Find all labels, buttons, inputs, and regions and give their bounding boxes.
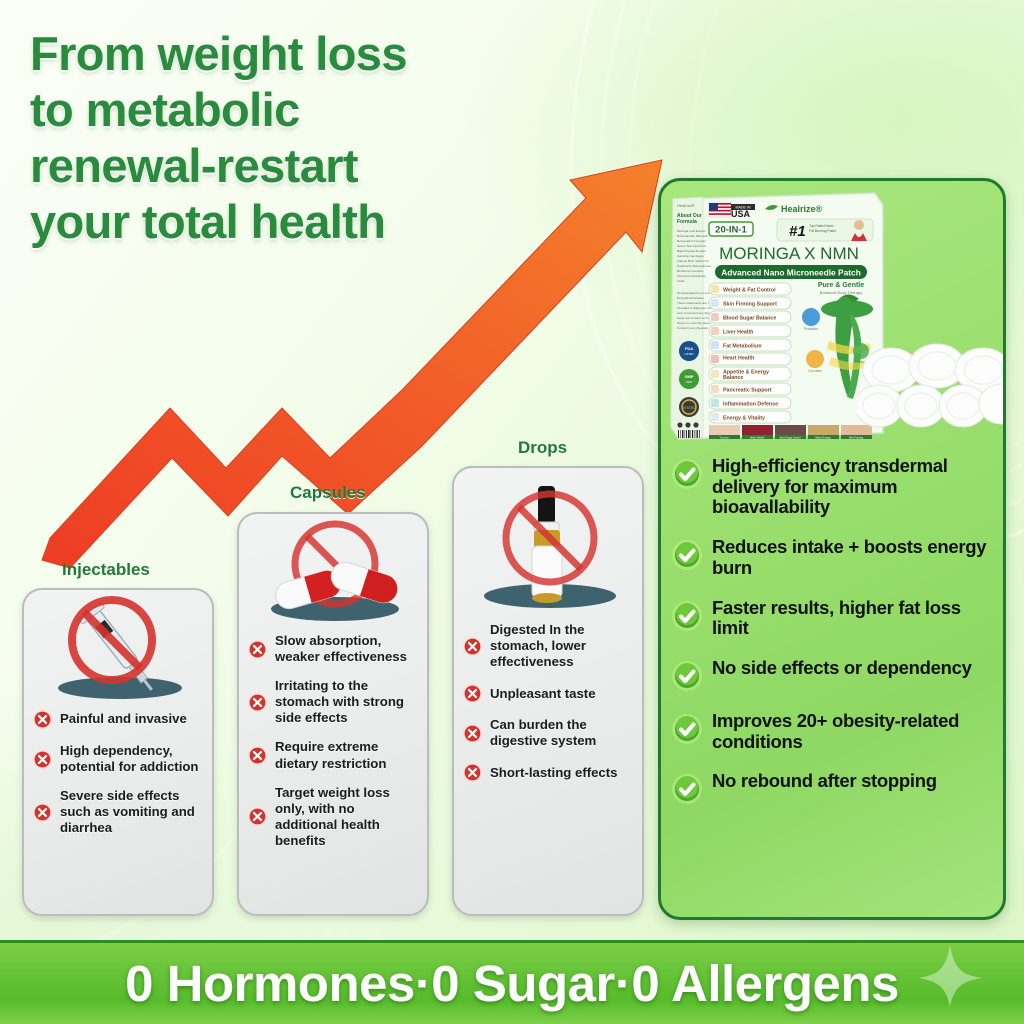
check-mark-icon xyxy=(671,600,703,632)
svg-text:Garcinia Cambogia: Garcinia Cambogia xyxy=(677,254,704,258)
list-item-text: Slow absorption, weaker effectiveness xyxy=(275,633,417,665)
svg-text:Liver Health: Liver Health xyxy=(723,330,753,336)
list-item: Short-lasting effects xyxy=(462,762,632,783)
svg-text:Heart Health: Heart Health xyxy=(750,435,765,439)
svg-text:Green Tea Catechins: Green Tea Catechins xyxy=(677,244,706,248)
svg-text:Healrize®: Healrize® xyxy=(781,204,823,214)
check-mark-icon xyxy=(671,539,703,571)
check-mark-icon xyxy=(671,713,703,745)
product-subtitle: Advanced Nano Microneedle Patch xyxy=(721,268,861,278)
svg-text:Moringa Leaf Extract: Moringa Leaf Extract xyxy=(677,229,706,233)
list-item-text: Digested In the stomach, lower effective… xyxy=(490,622,632,670)
card-label-capsules: Capsules xyxy=(290,483,366,503)
x-mark-icon xyxy=(462,683,483,704)
svg-text:20-IN-1: 20-IN-1 xyxy=(715,225,747,236)
count-badge: 20-IN-1 xyxy=(709,222,753,236)
svg-text:FDA: FDA xyxy=(685,346,693,351)
list-item-text: Painful and invasive xyxy=(60,711,187,727)
list-item: Digested In the stomach, lower effective… xyxy=(462,622,632,670)
list-item: High-efficiency transdermal delivery for… xyxy=(671,456,995,518)
svg-text:Blood Sugar Balance: Blood Sugar Balance xyxy=(723,316,776,322)
check-mark-icon xyxy=(671,458,703,490)
svg-text:Tummy: Tummy xyxy=(719,435,729,439)
capsules-drawback-list: Slow absorption, weaker effectiveness Ir… xyxy=(239,629,427,870)
svg-text:Store in a cool dry place.: Store in a cool dry place. xyxy=(677,321,711,325)
svg-text:Curcumin: Curcumin xyxy=(808,369,822,373)
check-mark-icon xyxy=(671,773,703,805)
svg-text:Botanical Body Therapy: Botanical Body Therapy xyxy=(820,290,862,295)
list-item: Reduces intake + boosts energy burn xyxy=(671,537,995,578)
svg-text:Heart Health: Heart Health xyxy=(723,356,754,362)
svg-text:Black Pepper Extract: Black Pepper Extract xyxy=(677,249,706,253)
svg-text:Probiotics: Probiotics xyxy=(804,327,818,331)
list-item: Require extreme dietary restriction xyxy=(247,739,417,771)
list-item-text: Irritating to the stomach with strong si… xyxy=(275,678,417,726)
syringe-prohibited-icon xyxy=(24,590,212,705)
pure-gentle-label: Pure & Gentle xyxy=(818,282,864,289)
x-mark-icon xyxy=(462,636,483,657)
list-item-text: Can burden the digestive system xyxy=(490,717,632,749)
barcode xyxy=(677,430,701,438)
dropper-bottle-prohibited-icon xyxy=(454,468,642,618)
list-item: High dependency, potential for addiction xyxy=(32,743,202,775)
svg-text:CERT: CERT xyxy=(685,380,692,384)
list-item: Painful and invasive xyxy=(32,709,202,730)
svg-text:Resveratrol Complex: Resveratrol Complex xyxy=(677,239,706,243)
list-item: No rebound after stopping xyxy=(671,771,995,805)
headline-line-4: your total health xyxy=(30,194,650,250)
svg-text:GMP: GMP xyxy=(684,374,693,379)
svg-text:intended to diagnose, treat,: intended to diagnose, treat, xyxy=(677,306,715,310)
check-mark-icon xyxy=(671,660,703,692)
svg-text:Fat Metabolism: Fat Metabolism xyxy=(723,344,762,350)
injectables-drawback-list: Painful and invasive High dependency, po… xyxy=(24,705,212,857)
svg-text:Top Rated Nano: Top Rated Nano xyxy=(809,224,834,228)
list-item-text: Require extreme dietary restriction xyxy=(275,739,417,771)
product-title: MORINGA X NMN xyxy=(719,244,859,263)
svg-text:Pancreatic Support: Pancreatic Support xyxy=(723,388,772,394)
x-mark-icon xyxy=(247,745,268,766)
svg-text:Energy & Vitality: Energy & Vitality xyxy=(723,416,765,422)
list-item-text: Short-lasting effects xyxy=(490,765,618,781)
benefit-text: No side effects or dependency xyxy=(712,658,972,679)
svg-text:Drug Administration.: Drug Administration. xyxy=(677,296,705,300)
bottom-claim-banner: 0 Hormones·0 Sugar·0 Allergens xyxy=(0,940,1024,1024)
svg-text:Chromium Picolinate: Chromium Picolinate xyxy=(677,274,706,278)
benefit-text: Reduces intake + boosts energy burn xyxy=(712,537,995,578)
x-mark-icon xyxy=(462,723,483,744)
svg-text:Fat Burning Patch: Fat Burning Patch xyxy=(809,229,836,233)
svg-text:Inflammation Defense: Inflammation Defense xyxy=(723,402,778,408)
made-in-usa-badge: MADE IN USA xyxy=(709,203,755,219)
svg-text:Nicotinamide Riboside: Nicotinamide Riboside xyxy=(677,234,708,238)
microneedle-patches-image xyxy=(857,336,1006,441)
svg-text:LISTED: LISTED xyxy=(684,352,693,356)
sparkle-icon xyxy=(918,945,982,1007)
x-mark-icon xyxy=(247,639,268,660)
list-item: Slow absorption, weaker effectiveness xyxy=(247,633,417,665)
rank-badge: #1 Top Rated Nano Fat Burning Patch xyxy=(777,219,873,241)
benefit-text: No rebound after stopping xyxy=(712,771,937,792)
x-mark-icon xyxy=(247,806,268,827)
benefit-text: High-efficiency transdermal delivery for… xyxy=(712,456,995,518)
headline-line-2: to metabolic xyxy=(30,82,650,138)
x-mark-icon xyxy=(32,749,53,770)
card-label-drops: Drops xyxy=(518,438,567,458)
svg-text:Berberine Complex: Berberine Complex xyxy=(677,269,704,273)
x-mark-icon xyxy=(462,762,483,783)
svg-text:Skin Firming Support: Skin Firming Support xyxy=(723,302,777,308)
svg-text:#1: #1 xyxy=(789,223,806,240)
svg-text:Weight & Fat Control: Weight & Fat Control xyxy=(723,288,776,294)
list-item: Target weight loss only, with no additio… xyxy=(247,785,417,849)
capsules-prohibited-icon xyxy=(239,514,427,629)
svg-text:Hyaluronic Microspheres: Hyaluronic Microspheres xyxy=(677,264,711,268)
svg-text:USA: USA xyxy=(731,209,751,219)
svg-text:These statements are not: These statements are not xyxy=(677,301,712,305)
list-item: Faster results, higher fat loss limit xyxy=(671,598,995,639)
list-item-text: Unpleasant taste xyxy=(490,686,596,702)
list-item: Unpleasant taste xyxy=(462,683,632,704)
x-mark-icon xyxy=(32,802,53,823)
comparison-card-injectables: Painful and invasive High dependency, po… xyxy=(22,588,214,916)
headline-line-1: From weight loss xyxy=(30,26,650,82)
x-mark-icon xyxy=(247,692,268,713)
list-item-text: High dependency, potential for addiction xyxy=(60,743,202,775)
benefits-list: High-efficiency transdermal delivery for… xyxy=(671,456,995,824)
comparison-card-drops: Digested In the stomach, lower effective… xyxy=(452,466,644,916)
page-headline: From weight loss to metabolic renewal-re… xyxy=(30,26,650,250)
list-item: Can burden the digestive system xyxy=(462,717,632,749)
comparison-card-capsules: Slow absorption, weaker effectiveness Ir… xyxy=(237,512,429,916)
headline-line-3: renewal-restart xyxy=(30,138,650,194)
benefit-thumbnails: Tummy Heart Health Blood Sugar Control W… xyxy=(709,425,872,439)
svg-text:Blood Sugar Control: Blood Sugar Control xyxy=(780,436,801,439)
drops-drawback-list: Digested In the stomach, lower effective… xyxy=(454,618,642,804)
svg-text:Inulin: Inulin xyxy=(677,279,685,283)
list-item: Improves 20+ obesity-related conditions xyxy=(671,711,995,752)
spine-brand: Healrize® xyxy=(677,203,695,208)
svg-text:Balance: Balance xyxy=(723,375,743,381)
list-item-text: Target weight loss only, with no additio… xyxy=(275,785,417,849)
benefit-text: Faster results, higher fat loss limit xyxy=(712,598,995,639)
svg-text:TESTED: TESTED xyxy=(682,406,696,410)
feature-pill-list: Weight & Fat Control Skin Firming Suppor… xyxy=(709,283,791,423)
svg-text:Waist Energy: Waist Energy xyxy=(815,435,831,439)
list-item-text: Severe side effects such as vomiting and… xyxy=(60,788,202,836)
list-item: Irritating to the stomach with strong si… xyxy=(247,678,417,726)
svg-text:Formula: Formula xyxy=(677,219,697,225)
svg-text:Vitamin B12, Vitamin D: Vitamin B12, Vitamin D xyxy=(677,259,709,263)
list-item: Severe side effects such as vomiting and… xyxy=(32,788,202,836)
product-box-image: Healrize® About Our Formula Moringa Leaf… xyxy=(669,191,887,441)
list-item: No side effects or dependency xyxy=(671,658,995,692)
banner-text: 0 Hormones·0 Sugar·0 Allergens xyxy=(125,954,899,1013)
x-mark-icon xyxy=(32,709,53,730)
card-label-injectables: Injectables xyxy=(62,560,150,580)
svg-text:Consult your physician.: Consult your physician. xyxy=(677,326,709,330)
benefit-text: Improves 20+ obesity-related conditions xyxy=(712,711,995,752)
product-benefits-panel: Healrize® About Our Formula Moringa Leaf… xyxy=(658,178,1006,920)
